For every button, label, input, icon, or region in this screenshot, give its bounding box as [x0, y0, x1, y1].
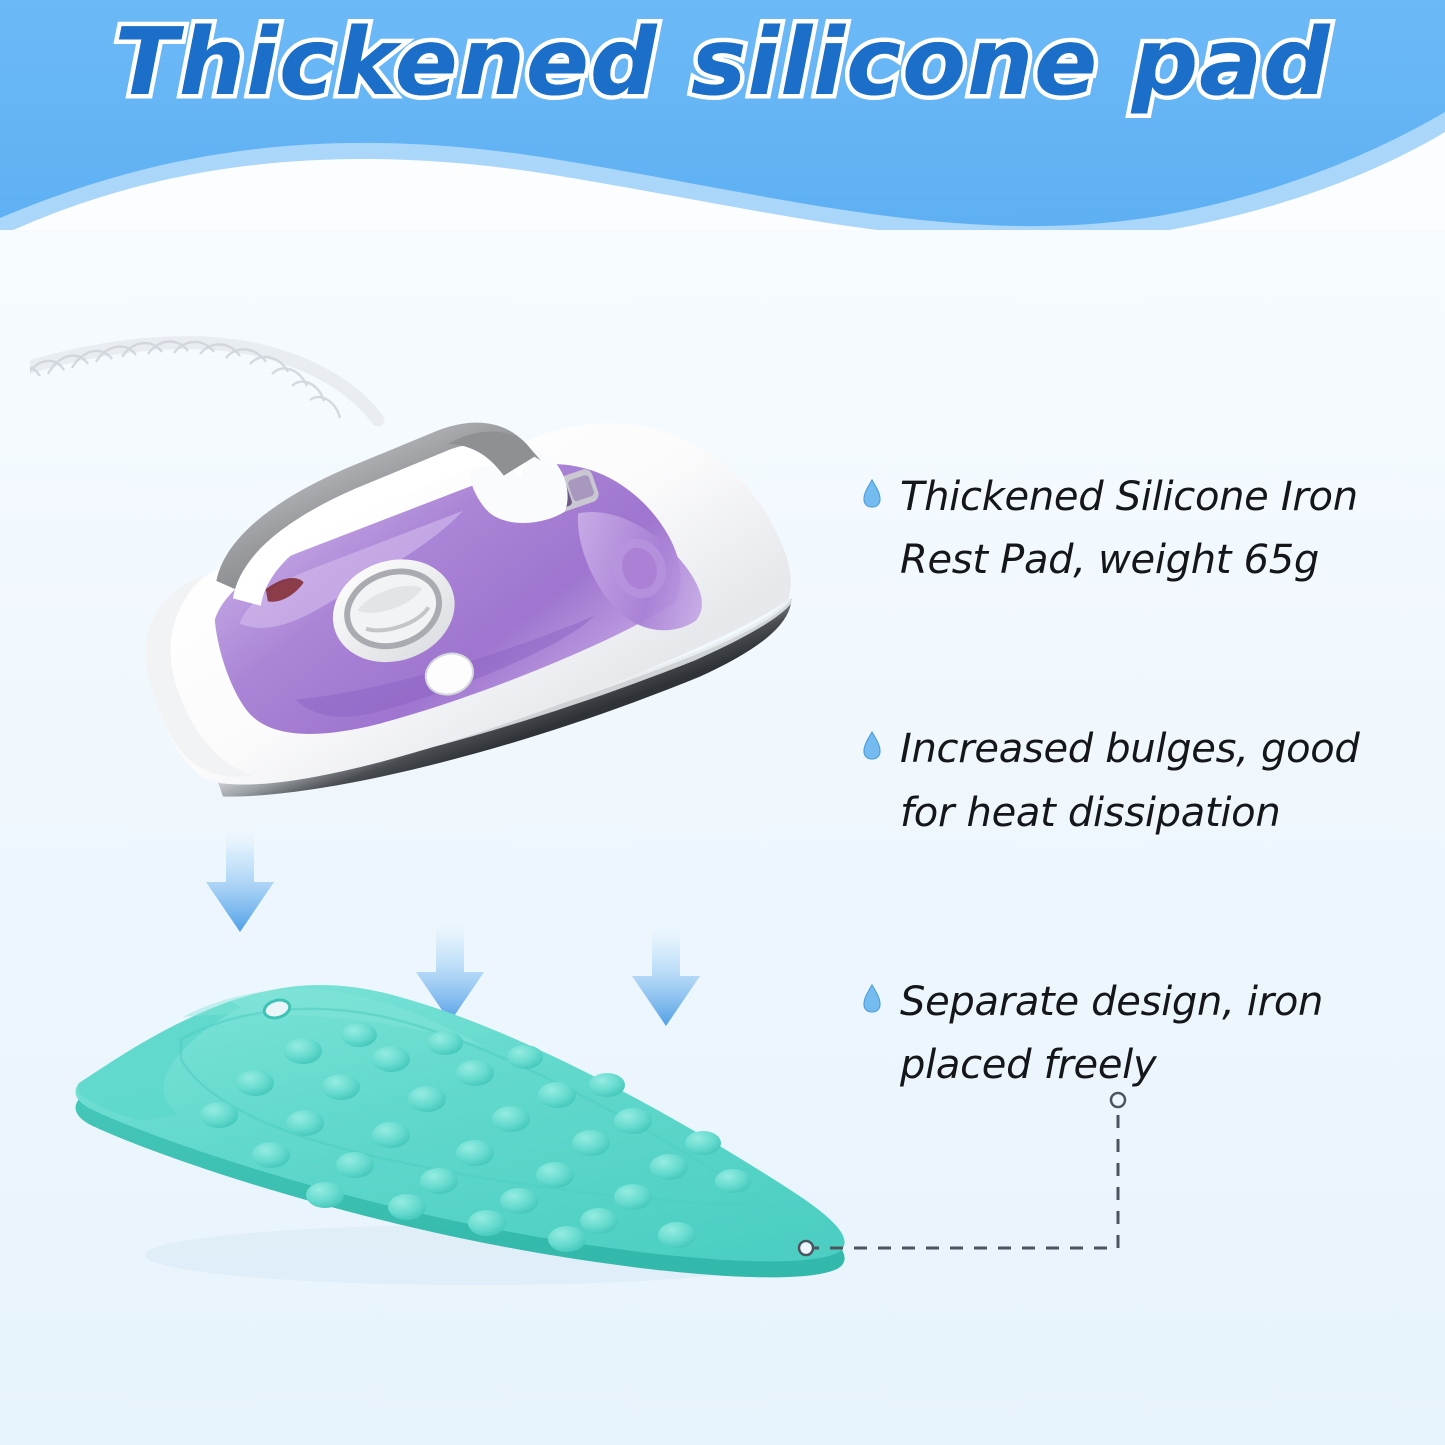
- dimension-callout: [770, 1070, 1190, 1300]
- page-title-outline: Thickened silicone pad: [0, 8, 1445, 116]
- iron-drop-icon: [862, 984, 882, 1014]
- callout-dashed-path: [806, 1100, 1118, 1248]
- feature-list: Thickened Silicone Iron Rest Pad, weight…: [862, 466, 1422, 1097]
- feature-item-2: Increased bulges, good for heat dissipat…: [862, 718, 1422, 844]
- iron-drop-icon: [862, 731, 882, 761]
- header-banner: Thickened silicone pad Thickened silicon…: [0, 0, 1445, 230]
- power-cord: [30, 343, 378, 420]
- steam-iron-image: [30, 300, 820, 910]
- feature-item-1: Thickened Silicone Iron Rest Pad, weight…: [862, 466, 1422, 592]
- callout-endpoint-start: [799, 1241, 813, 1255]
- feature-item-3: Separate design, iron placed freely: [862, 971, 1422, 1097]
- product-infographic: Thickened silicone pad Thickened silicon…: [0, 0, 1445, 1445]
- iron-drop-icon: [862, 479, 882, 509]
- arrow-down-1: [206, 820, 274, 932]
- silicone-pad-image: [55, 955, 885, 1300]
- feature-text-1: Thickened Silicone Iron Rest Pad, weight…: [900, 466, 1422, 592]
- iron-body-group: [102, 336, 815, 849]
- feature-text-2: Increased bulges, good for heat dissipat…: [900, 718, 1400, 844]
- feature-text-3: Separate design, iron placed freely: [900, 971, 1330, 1097]
